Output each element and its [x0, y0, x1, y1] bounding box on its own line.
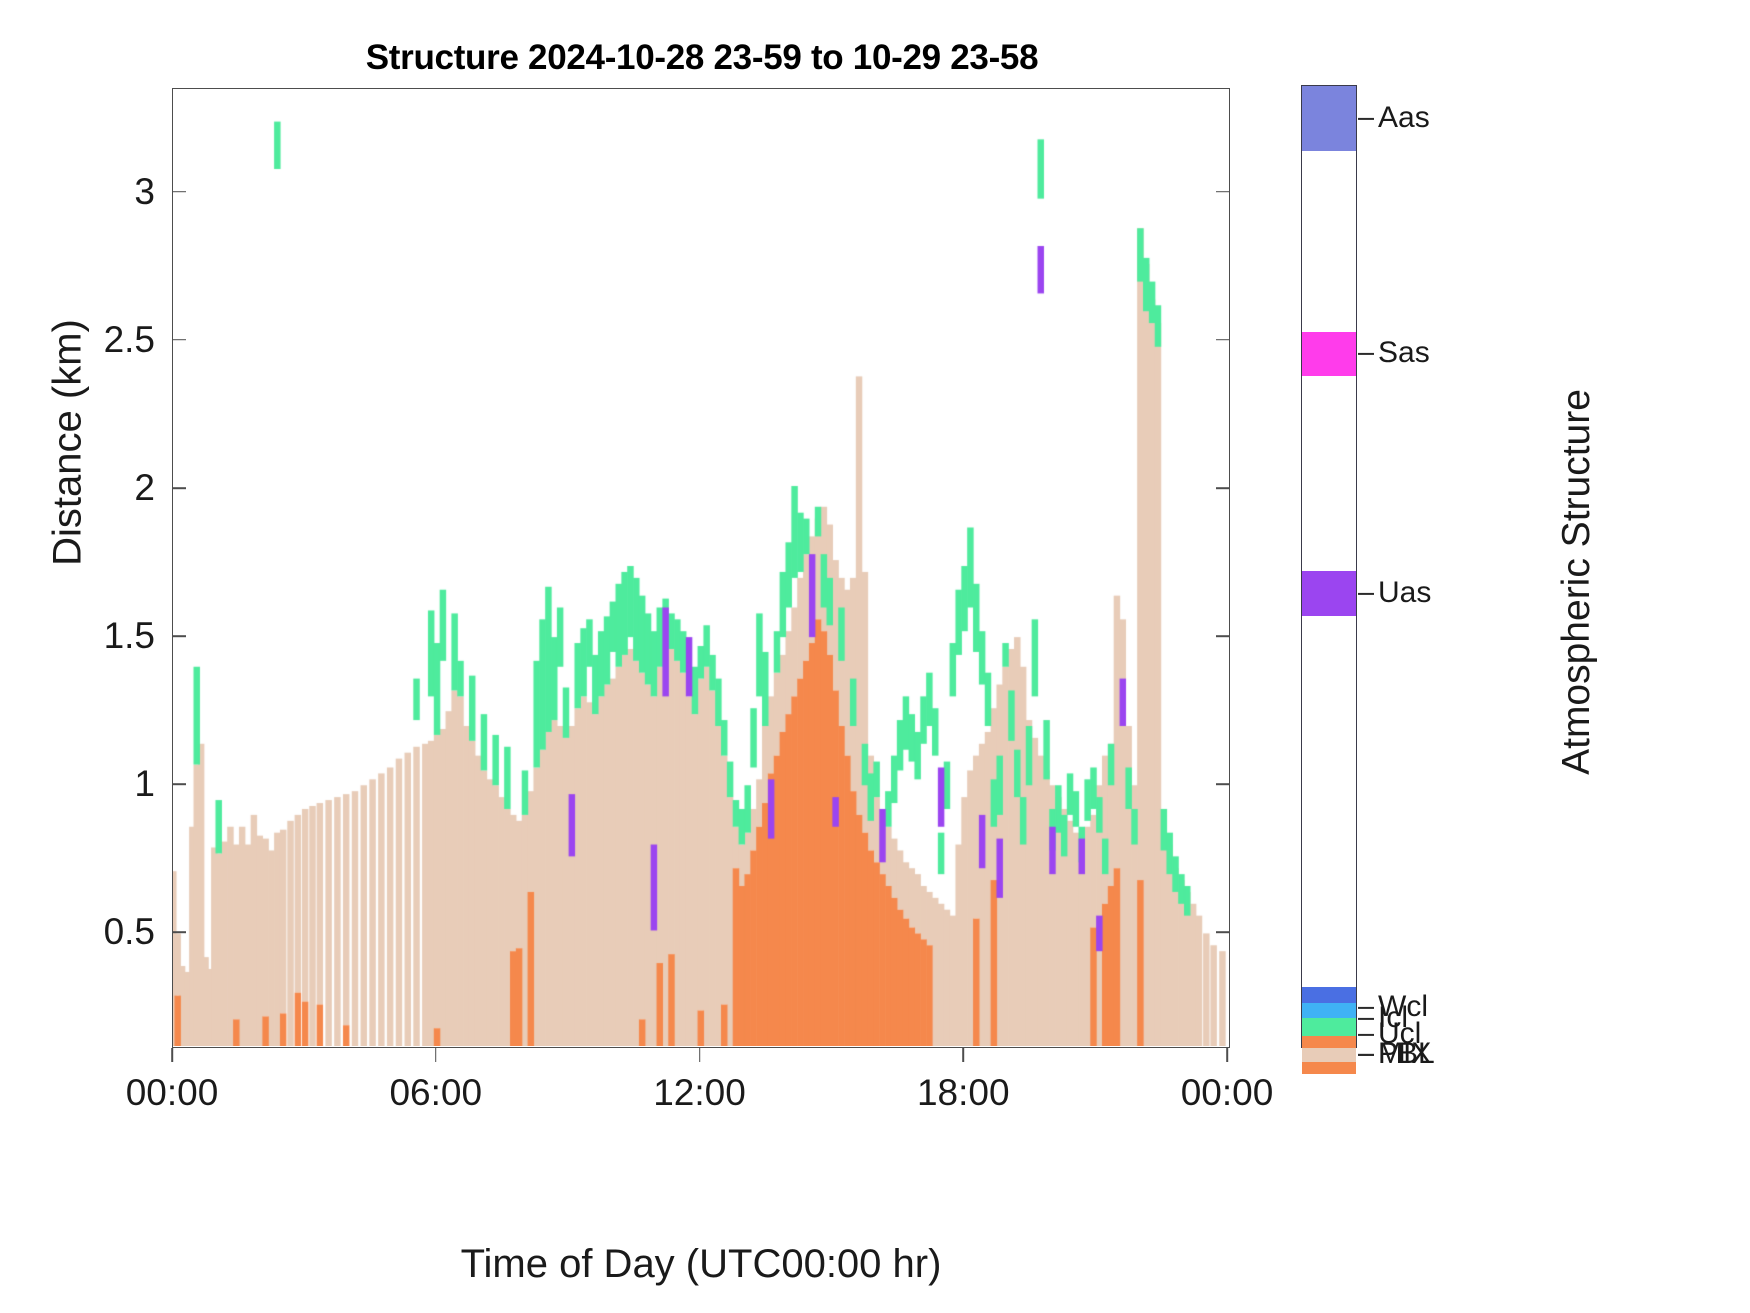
x-tick-mark — [435, 1048, 437, 1062]
y-tick-mark — [172, 932, 186, 934]
y-tick-mark-right — [1216, 191, 1230, 193]
x-axis-title: Time of Day (UTC00:00 hr) — [172, 1242, 1230, 1287]
chart-root: Structure 2024-10-28 23-59 to 10-29 23-5… — [0, 0, 1750, 1313]
colorbar-segment-aas[interactable] — [1302, 86, 1356, 151]
colorbar-label-sas: Sas — [1378, 336, 1430, 370]
plot-canvas — [173, 89, 1228, 1046]
y-tick-mark — [172, 339, 186, 341]
colorbar[interactable] — [1301, 85, 1357, 1048]
x-tick-mark — [699, 1048, 701, 1062]
y-tick-label: 1.5 — [20, 615, 155, 657]
y-tick-label: 3 — [20, 171, 155, 213]
y-tick-label: 0.5 — [20, 911, 155, 953]
x-tick-mark — [1226, 1048, 1228, 1062]
colorbar-title: Atmospheric Structure — [1555, 342, 1599, 822]
colorbar-segment-sas[interactable] — [1302, 332, 1356, 376]
y-tick-mark — [172, 783, 186, 785]
colorbar-tick — [1358, 592, 1374, 594]
y-tick-mark-right — [1216, 783, 1230, 785]
colorbar-tick — [1358, 353, 1374, 355]
y-tick-mark-right — [1216, 932, 1230, 934]
y-axis-title: Distance (km) — [46, 233, 91, 653]
colorbar-tick — [1358, 1018, 1374, 1020]
y-tick-label: 2 — [20, 467, 155, 509]
y-tick-mark-right — [1216, 635, 1230, 637]
colorbar-tick — [1358, 118, 1374, 120]
x-tick-label: 00:00 — [1181, 1072, 1274, 1114]
chart-title: Structure 2024-10-28 23-59 to 10-29 23-5… — [172, 38, 1232, 78]
colorbar-segment-uas[interactable] — [1302, 571, 1356, 615]
x-tick-label: 06:00 — [389, 1072, 482, 1114]
x-tick-label: 18:00 — [917, 1072, 1010, 1114]
colorbar-tick — [1358, 1006, 1374, 1008]
colorbar-label-aas: Aas — [1378, 101, 1430, 135]
y-tick-mark-right — [1216, 487, 1230, 489]
colorbar-tick — [1358, 1054, 1374, 1056]
colorbar-label-uas: Uas — [1378, 576, 1431, 610]
plot-area — [172, 88, 1230, 1048]
colorbar-segment-pbl[interactable] — [1302, 1048, 1356, 1061]
x-tick-label: 12:00 — [653, 1072, 746, 1114]
y-tick-mark — [172, 487, 186, 489]
y-tick-mark — [172, 191, 186, 193]
colorbar-tick — [1358, 1033, 1374, 1035]
y-tick-mark — [172, 635, 186, 637]
y-tick-label: 1 — [20, 763, 155, 805]
colorbar-label-pbl: PBL — [1378, 1037, 1435, 1071]
y-tick-mark-right — [1216, 339, 1230, 341]
x-tick-mark — [962, 1048, 964, 1062]
x-tick-label: 00:00 — [126, 1072, 219, 1114]
y-tick-label: 2.5 — [20, 319, 155, 361]
x-tick-mark — [171, 1048, 173, 1062]
